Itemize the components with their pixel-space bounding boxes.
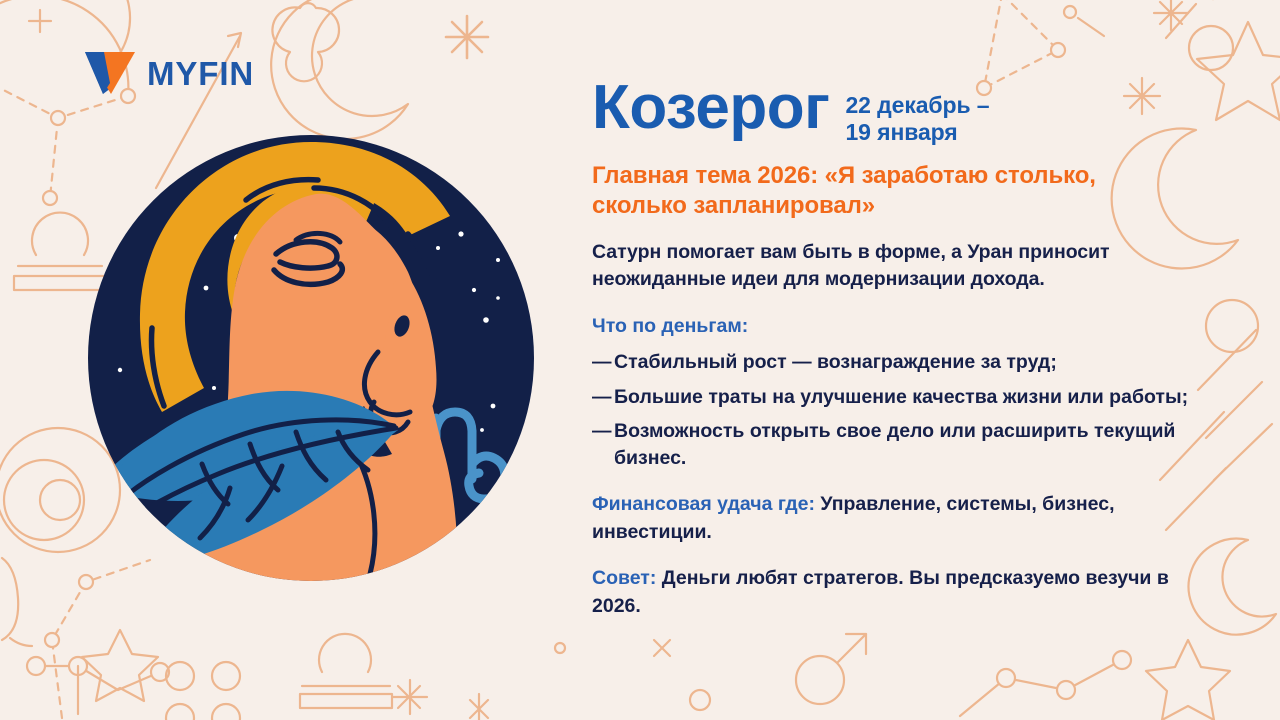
advice-label: Совет:: [592, 567, 656, 589]
horoscope-content: Козерог 22 декабрь – 19 января Главная т…: [592, 78, 1217, 639]
bullet-text: Возможность открыть свое дело или расшир…: [614, 420, 1175, 469]
money-section-label: Что по деньгам:: [592, 313, 1217, 340]
myfin-v-logo-icon: [84, 50, 136, 96]
brand-name: MYFIN: [147, 57, 254, 90]
bullet-dash: —: [592, 384, 614, 411]
bullet-dash: —: [592, 349, 614, 376]
date-range: 22 декабрь – 19 января: [845, 78, 989, 146]
list-item: —Большие траты на улучшение качества жиз…: [592, 384, 1214, 411]
advice-text: Деньги любят стратегов. Вы предсказуемо …: [592, 567, 1169, 616]
luck-label: Финансовая удача где:: [592, 493, 815, 515]
list-item: —Стабильный рост — вознаграждение за тру…: [592, 349, 1214, 376]
intro-paragraph: Сатурн помогает вам быть в форме, а Уран…: [592, 239, 1204, 294]
poster-canvas: MYFIN: [0, 0, 1280, 720]
bullet-text: Большие траты на улучшение качества жизн…: [614, 386, 1188, 408]
page-title: Козерог: [592, 78, 829, 138]
bullet-text: Стабильный рост — вознаграждение за труд…: [614, 351, 1057, 373]
money-bullet-list: —Стабильный рост — вознаграждение за тру…: [592, 349, 1217, 473]
luck-paragraph: Финансовая удача где: Управление, систем…: [592, 491, 1204, 546]
title-row: Козерог 22 декабрь – 19 января: [592, 78, 1217, 146]
bullet-dash: —: [592, 418, 614, 445]
brand-logo[interactable]: MYFIN: [84, 50, 254, 96]
list-item: —Возможность открыть свое дело или расши…: [592, 418, 1214, 472]
main-theme: Главная тема 2026: «Я заработаю столько,…: [592, 161, 1162, 222]
advice-paragraph: Совет: Деньги любят стратегов. Вы предск…: [592, 565, 1204, 620]
capricorn-goat-illustration: [78, 130, 548, 590]
